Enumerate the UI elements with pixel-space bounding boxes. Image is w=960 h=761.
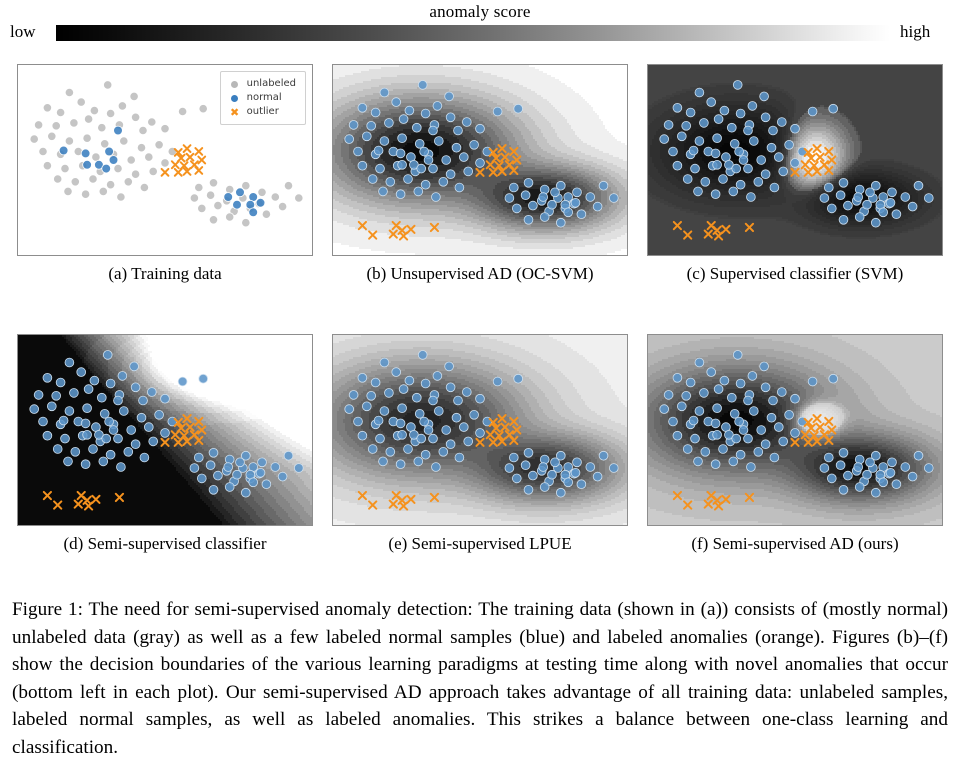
panel-b-plot <box>332 64 628 256</box>
panel-d-contours <box>18 335 312 525</box>
panel-b-contours <box>333 65 627 255</box>
legend-item-normal: normal <box>228 91 296 105</box>
legend-label-unlabeled: unlabeled <box>247 77 296 91</box>
panel-c-caption: (c) Supervised classifier (SVM) <box>607 264 960 284</box>
outlier-marker-icon: ✖ <box>228 107 242 118</box>
panel-a: unlabeled normal ✖ outlier (a) Training … <box>17 64 313 256</box>
normal-marker-icon <box>228 95 242 102</box>
colorbar-gradient <box>56 25 890 41</box>
panel-e: (e) Semi-supervised LPUE <box>332 334 628 526</box>
colorbar-low-label: low <box>10 22 36 42</box>
panel-d-plot <box>17 334 313 526</box>
panel-f: (f) Semi-supervised AD (ours) <box>647 334 943 526</box>
figure-caption: Figure 1: The need for semi-supervised a… <box>12 596 948 761</box>
colorbar-title: anomaly score <box>0 2 960 22</box>
panel-e-contours <box>333 335 627 525</box>
panel-e-plot <box>332 334 628 526</box>
panel-c: (c) Supervised classifier (SVM) <box>647 64 943 256</box>
colorbar-high-label: high <box>900 22 930 42</box>
panel-b: (b) Unsupervised AD (OC-SVM) <box>332 64 628 256</box>
legend-label-normal: normal <box>247 91 282 105</box>
figure-root: anomaly score low high unlabeled normal … <box>0 0 960 760</box>
panel-f-plot <box>647 334 943 526</box>
legend-item-outlier: ✖ outlier <box>228 105 296 119</box>
panel-c-contours <box>648 65 942 255</box>
legend: unlabeled normal ✖ outlier <box>220 71 306 125</box>
colorbar: anomaly score low high <box>0 0 960 52</box>
panel-f-caption: (f) Semi-supervised AD (ours) <box>607 534 960 554</box>
panel-d: (d) Semi-supervised classifier <box>17 334 313 526</box>
unlabeled-marker-icon <box>228 81 242 88</box>
panel-a-plot: unlabeled normal ✖ outlier <box>17 64 313 256</box>
legend-item-unlabeled: unlabeled <box>228 77 296 91</box>
panel-f-contours <box>648 335 942 525</box>
panel-c-plot <box>647 64 943 256</box>
legend-label-outlier: outlier <box>247 105 279 119</box>
